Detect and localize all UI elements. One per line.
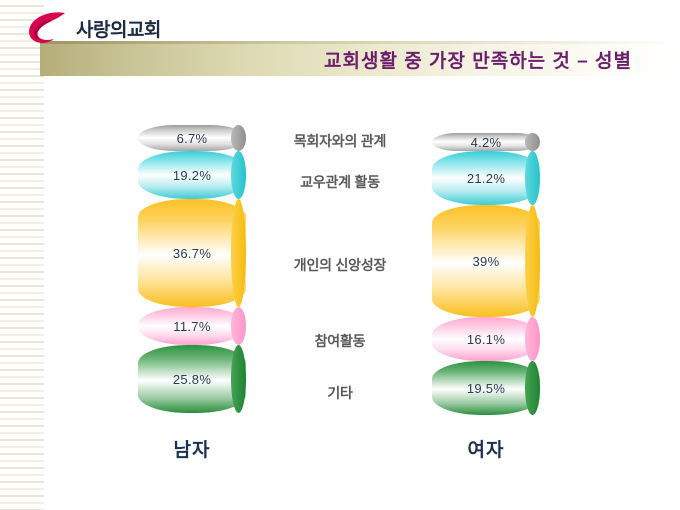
bar-segment-male-0[interactable]: 6.7%	[138, 125, 246, 151]
group-label-male: 남자	[138, 435, 246, 462]
page-title: 교회생활 중 가장 만족하는 것 – 성별	[0, 46, 660, 73]
segment-value-label: 11.7%	[173, 319, 210, 334]
segment-value-label: 16.1%	[467, 332, 505, 347]
segment-value-label: 21.2%	[467, 171, 505, 186]
segment-value-label: 39%	[473, 254, 500, 269]
category-label-4: 기타	[240, 383, 440, 403]
bar-segment-female-2[interactable]: 39%	[432, 205, 540, 317]
bar-segment-male-1[interactable]: 19.2%	[138, 151, 246, 199]
segment-value-label: 19.2%	[173, 168, 211, 183]
category-label-0: 목회자와의 관계	[240, 131, 440, 151]
flame-logo-icon	[24, 11, 68, 45]
bar-segment-female-1[interactable]: 21.2%	[432, 151, 540, 205]
bar-segment-female-4[interactable]: 19.5%	[432, 361, 540, 415]
bar-segment-female-3[interactable]: 16.1%	[432, 317, 540, 361]
segment-value-label: 36.7%	[173, 246, 211, 261]
category-label-2: 개인의 신앙성장	[240, 255, 440, 275]
bar-segment-male-2[interactable]: 36.7%	[138, 199, 246, 307]
bar-segment-female-0[interactable]: 4.2%	[432, 133, 540, 151]
category-label-3: 참여활동	[240, 331, 440, 351]
chart-canvas: 6.7% 19.2% 36.7% 11.7% 25.8% 4.2% 21.2% …	[45, 95, 680, 495]
stacked-bar-male: 6.7% 19.2% 36.7% 11.7% 25.8%	[138, 95, 246, 413]
group-label-female: 여자	[432, 435, 540, 462]
brand-name: 사랑의교회	[76, 15, 161, 42]
segment-value-label: 4.2%	[471, 135, 502, 150]
bar-segment-male-4[interactable]: 25.8%	[138, 345, 246, 413]
brand-logo: 사랑의교회	[24, 8, 161, 48]
segment-value-label: 19.5%	[467, 381, 505, 396]
left-stripe-decoration	[0, 0, 45, 510]
stacked-bar-female: 4.2% 21.2% 39% 16.1% 19.5%	[432, 95, 540, 415]
bar-segment-male-3[interactable]: 11.7%	[138, 307, 246, 345]
category-label-1: 교우관계 활동	[240, 172, 440, 192]
segment-value-label: 25.8%	[173, 372, 211, 387]
segment-value-label: 6.7%	[177, 131, 208, 146]
